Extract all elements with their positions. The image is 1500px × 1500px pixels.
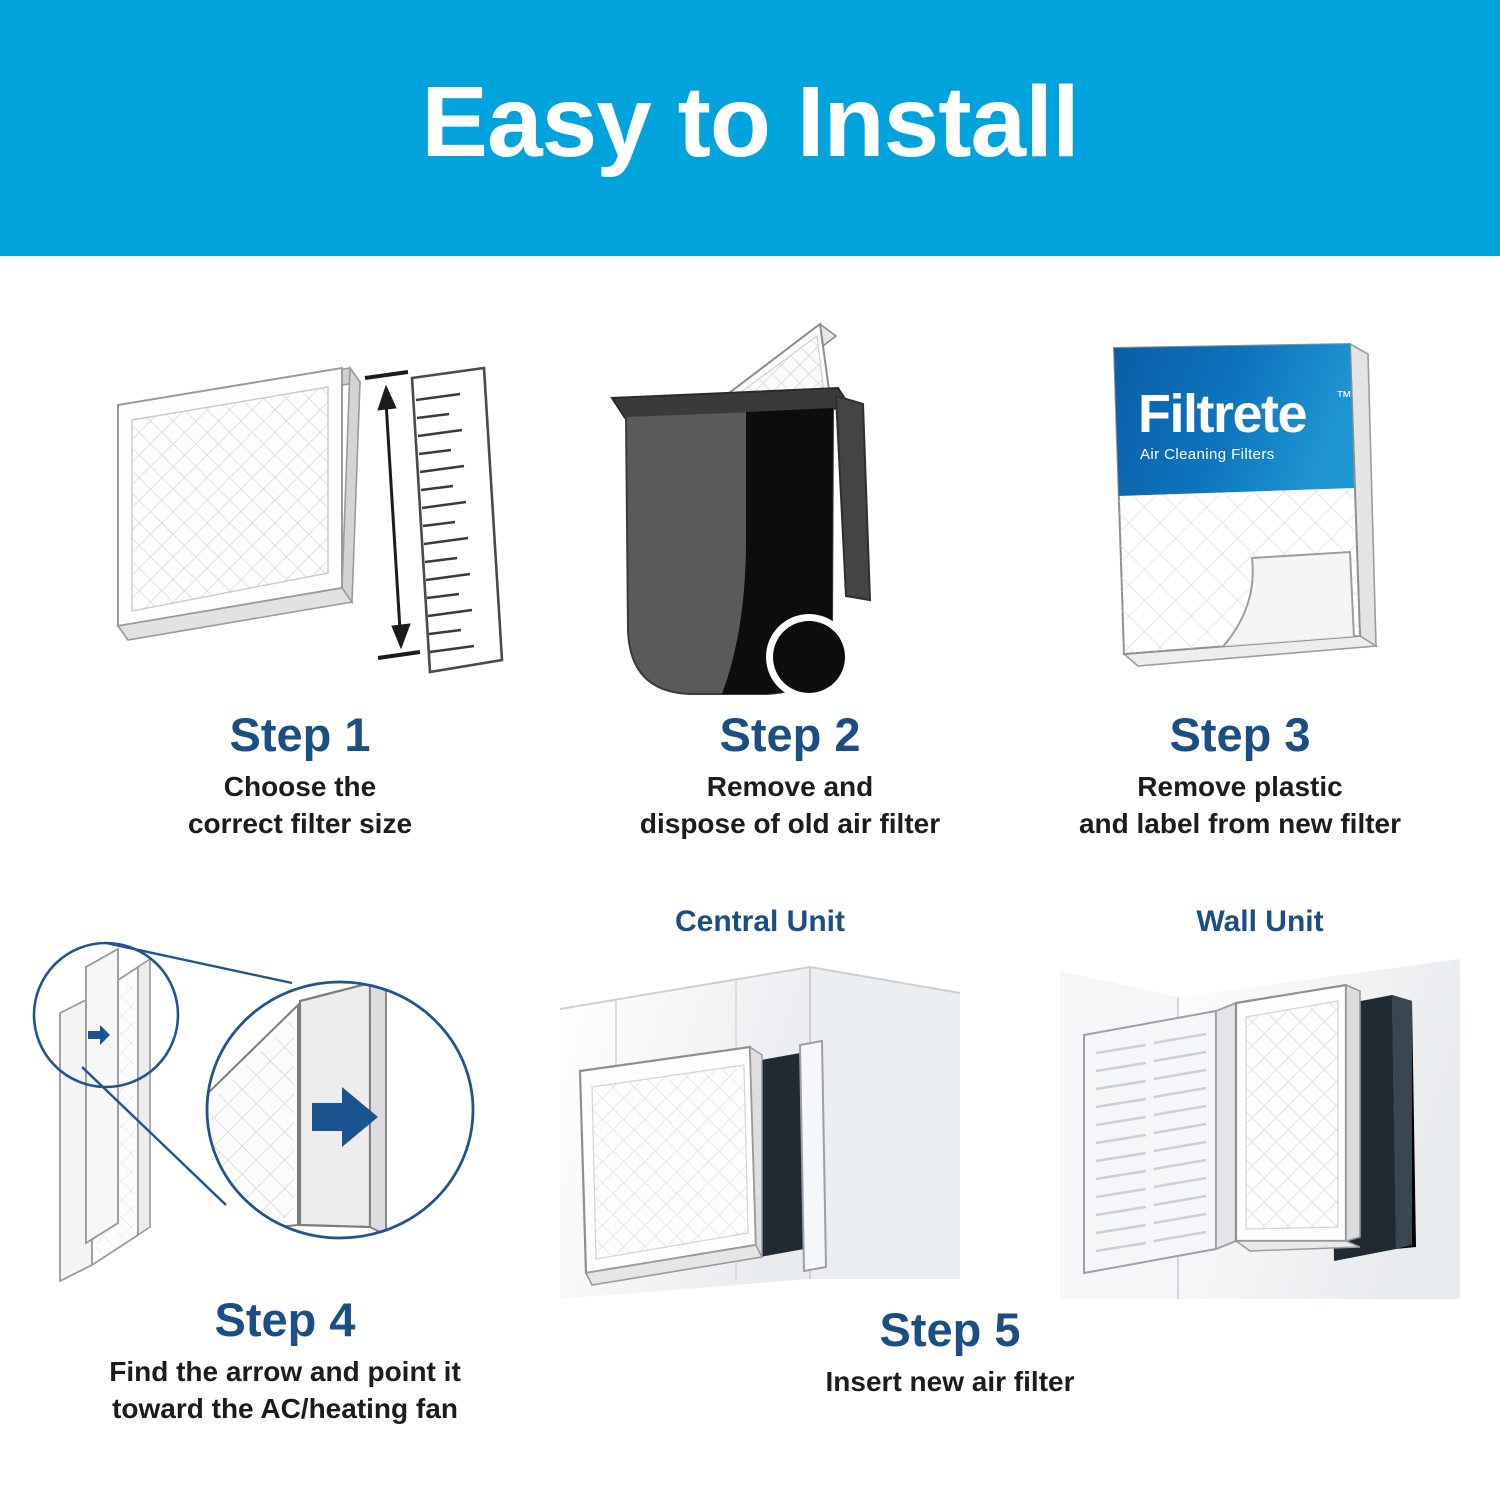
step-4-heading: Step 4 bbox=[214, 1295, 355, 1344]
step-4-caption-line-2: toward the AC/heating fan bbox=[109, 1391, 461, 1428]
step-4-caption-line-1: Find the arrow and point it bbox=[109, 1354, 461, 1391]
step-3-caption-line-2: and label from new filter bbox=[1079, 806, 1401, 843]
step-5-caption: Insert new air filter bbox=[826, 1364, 1075, 1401]
filter-arrow-magnifier-icon bbox=[30, 905, 540, 1295]
new-air-filter bbox=[1236, 985, 1360, 1251]
infographic-page: Easy to Install bbox=[0, 0, 1500, 1500]
step-2-caption-line-1: Remove and bbox=[640, 769, 940, 806]
filter-with-ruler-icon bbox=[60, 330, 540, 710]
step-4-caption: Find the arrow and point it toward the A… bbox=[109, 1354, 461, 1428]
step-1-heading: Step 1 bbox=[229, 710, 370, 759]
new-air-filter bbox=[580, 1047, 762, 1285]
central-unit-group: Central Unit bbox=[560, 905, 960, 1299]
wall-unit-illustration bbox=[1060, 949, 1460, 1299]
brand-trademark-icon: ™ bbox=[1336, 389, 1352, 406]
step-2-caption: Remove and dispose of old air filter bbox=[640, 769, 940, 843]
step-2-illustration bbox=[570, 300, 1010, 710]
ruler-icon bbox=[412, 368, 502, 672]
step-3-cell: Filtrete ™ Air Cleaning Filters Step 3 R… bbox=[1020, 320, 1460, 843]
page-title: Easy to Install bbox=[421, 72, 1078, 184]
standing-air-filter bbox=[60, 949, 150, 1281]
filtrete-package-icon: Filtrete ™ Air Cleaning Filters bbox=[1020, 320, 1460, 710]
access-panel bbox=[800, 1041, 826, 1271]
measurement-arrow bbox=[365, 372, 420, 658]
step-5-heading: Step 5 bbox=[879, 1305, 1020, 1354]
step-2-caption-line-2: dispose of old air filter bbox=[640, 806, 940, 843]
step-1-caption-line-2: correct filter size bbox=[188, 806, 412, 843]
wall-unit-label: Wall Unit bbox=[1060, 905, 1460, 939]
wall-plane-right bbox=[810, 967, 960, 1279]
wall-unit-group: Wall Unit bbox=[1060, 905, 1460, 1299]
door-hinge-spine bbox=[1216, 1003, 1236, 1249]
step-5-caption-line-1: Insert new air filter bbox=[826, 1364, 1075, 1401]
trash-bin-with-filter-icon bbox=[570, 300, 1010, 710]
step-4-illustration bbox=[30, 905, 540, 1295]
central-unit-icon bbox=[560, 949, 960, 1299]
step-2-heading: Step 2 bbox=[719, 710, 860, 759]
step-3-illustration: Filtrete ™ Air Cleaning Filters bbox=[1020, 320, 1460, 710]
header-banner: Easy to Install bbox=[0, 0, 1500, 256]
step-1-cell: Step 1 Choose the correct filter size bbox=[60, 330, 540, 843]
step-3-caption: Remove plastic and label from new filter bbox=[1079, 769, 1401, 843]
step-1-illustration bbox=[60, 330, 540, 710]
filter-slot-opening bbox=[756, 1053, 804, 1257]
step-3-caption-line-1: Remove plastic bbox=[1079, 769, 1401, 806]
louvered-grille-door bbox=[1084, 1011, 1216, 1273]
step-1-caption: Choose the correct filter size bbox=[188, 769, 412, 843]
brand-wordmark: Filtrete bbox=[1138, 384, 1307, 444]
bin-handle bbox=[836, 396, 870, 600]
step-2-cell: Step 2 Remove and dispose of old air fil… bbox=[570, 300, 1010, 843]
step-1-caption-line-1: Choose the bbox=[188, 769, 412, 806]
step-3-heading: Step 3 bbox=[1169, 710, 1310, 759]
central-unit-illustration bbox=[560, 949, 960, 1299]
step-5-cell: Central Unit bbox=[560, 905, 1460, 1401]
bin-wheel bbox=[773, 621, 845, 693]
central-unit-label: Central Unit bbox=[560, 905, 960, 939]
air-filter-slab bbox=[118, 368, 360, 640]
wall-unit-icon bbox=[1060, 949, 1460, 1299]
brand-tagline: Air Cleaning Filters bbox=[1140, 446, 1275, 463]
